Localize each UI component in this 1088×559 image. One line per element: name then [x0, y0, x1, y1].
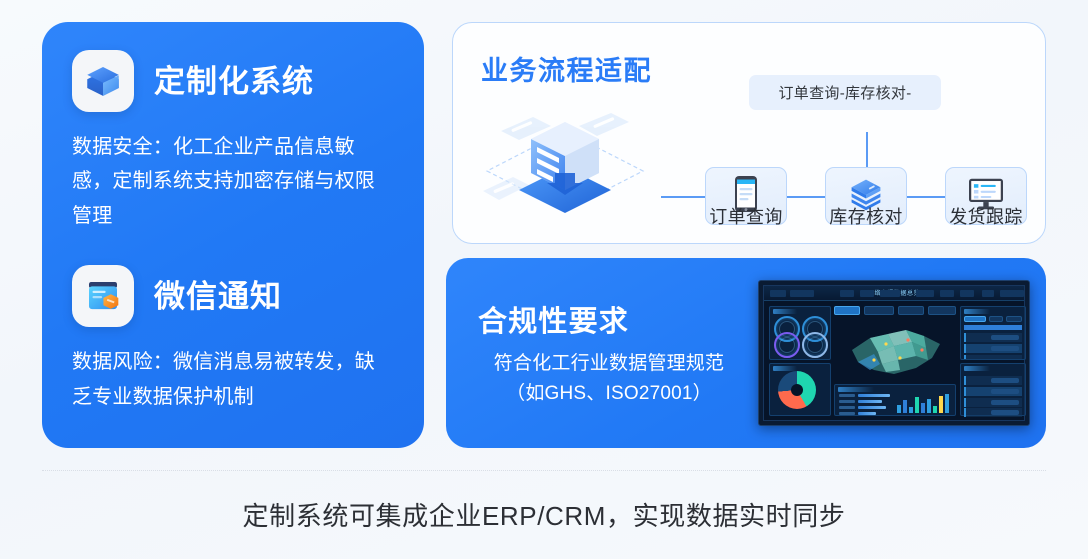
dashboard-map — [836, 320, 956, 382]
dashboard-screenshot: 网络交通数据总览 — [758, 280, 1030, 426]
dashboard-panel-gauges — [769, 306, 831, 360]
dashboard-panel-list-bottom — [960, 363, 1026, 416]
isometric-server-icon — [467, 95, 663, 232]
flow-connector-2 — [907, 196, 945, 198]
footer-divider — [42, 470, 1046, 471]
flow-step-label-2: 发货跟踪 — [931, 203, 1041, 229]
business-flow-card: 业务流程适配 — [452, 22, 1046, 244]
poster-canvas: 定制化系统 数据安全：化工企业产品信息敏感，定制系统支持加密存储与权限管理 — [0, 0, 1088, 559]
feature-title: 微信通知 — [154, 281, 282, 312]
feature-title: 定制化系统 — [154, 66, 314, 97]
flow-tooltip: 订单查询-库存核对- — [749, 75, 941, 110]
flow-card-title: 业务流程适配 — [481, 49, 652, 88]
folder-cube-icon — [72, 265, 134, 327]
dashboard-inner: 网络交通数据总览 — [763, 285, 1025, 421]
dashboard-header: 网络交通数据总览 — [764, 286, 1024, 301]
layers-box-icon — [72, 50, 134, 112]
compliance-subtitle-line1: 符合化工行业数据管理规范 — [472, 350, 746, 379]
feature-header-custom-system: 定制化系统 — [72, 50, 394, 112]
dashboard-tabs — [834, 306, 956, 318]
feature-body: 数据风险：微信消息易被转发，缺乏专业数据保护机制 — [72, 345, 394, 414]
left-feature-card: 定制化系统 数据安全：化工企业产品信息敏感，定制系统支持加密存储与权限管理 — [42, 22, 424, 448]
compliance-title: 合规性要求 — [472, 298, 746, 340]
flow-connector-0 — [661, 196, 705, 198]
footer-caption: 定制系统可集成企业ERP/CRM，实现数据实时同步 — [0, 496, 1088, 533]
dashboard-panel-list-top — [960, 306, 1026, 360]
flow-connector-1 — [787, 196, 825, 198]
feature-header-wechat: 微信通知 — [72, 265, 394, 327]
dashboard-panel-bars — [834, 384, 956, 416]
compliance-subtitle-line2: （如GHS、ISO27001） — [472, 380, 746, 409]
flow-step-label-1: 库存核对 — [811, 203, 921, 229]
dashboard-panel-donut — [769, 363, 831, 416]
feature-block-wechat: 微信通知 数据风险：微信消息易被转发，缺乏专业数据保护机制 — [72, 265, 394, 414]
feature-body: 数据安全：化工企业产品信息敏感，定制系统支持加密存储与权限管理 — [72, 130, 394, 233]
compliance-text-block: 合规性要求 符合化工行业数据管理规范 （如GHS、ISO27001） — [446, 298, 746, 409]
flow-step-label-0: 订单查询 — [691, 203, 801, 229]
tooltip-connector — [866, 132, 868, 167]
